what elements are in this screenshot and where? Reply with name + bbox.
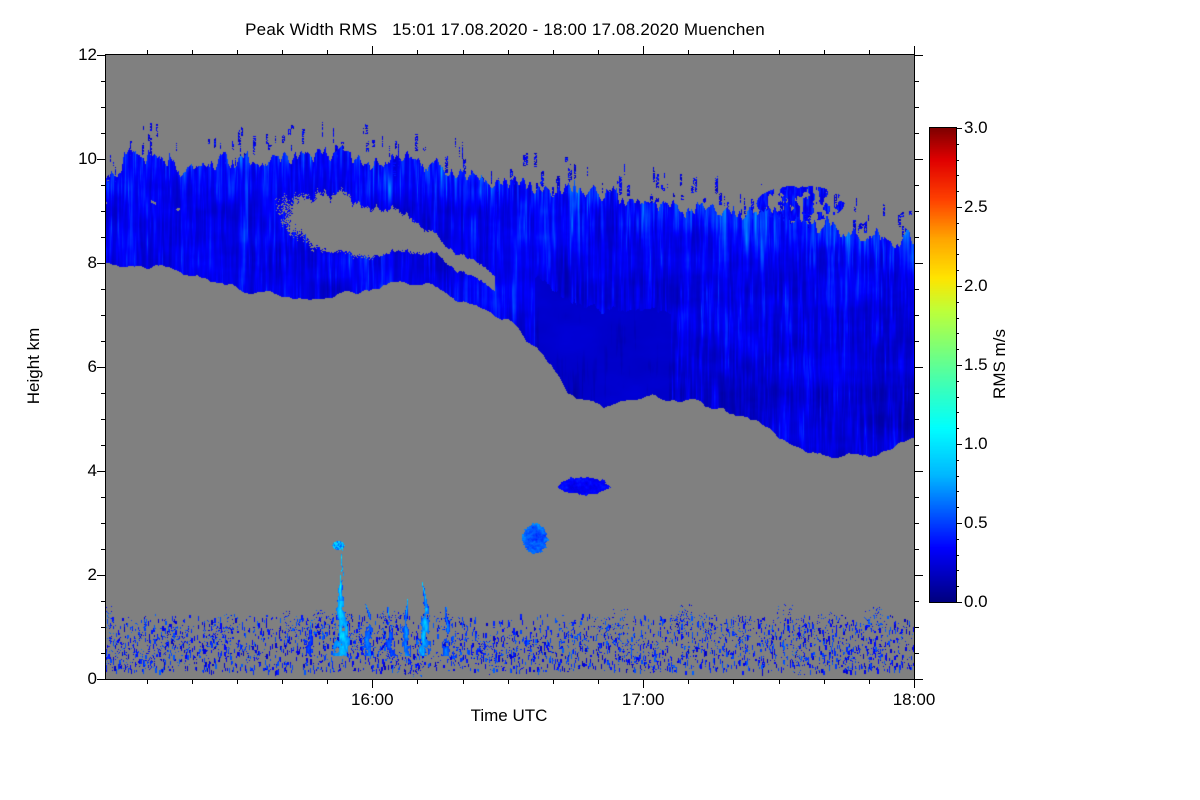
y-tick	[914, 341, 919, 342]
heatmap-image	[106, 55, 914, 679]
y-tick	[101, 341, 106, 342]
colorbar-tick	[956, 191, 959, 192]
y-tick	[101, 445, 106, 446]
colorbar-tick-label: 0.0	[964, 592, 988, 612]
x-tick	[417, 679, 418, 684]
y-tick	[101, 211, 106, 212]
y-tick	[101, 393, 106, 394]
y-axis-title: Height km	[22, 54, 46, 678]
x-tick	[733, 679, 734, 684]
colorbar-title: RMS m/s	[988, 127, 1012, 601]
y-tick	[101, 185, 106, 186]
x-tick	[869, 679, 870, 684]
x-tick	[508, 50, 509, 55]
x-tick	[914, 46, 915, 55]
y-tick	[914, 315, 919, 316]
y-tick	[97, 159, 106, 160]
x-tick	[282, 679, 283, 684]
y-tick	[97, 55, 106, 56]
x-tick	[824, 50, 825, 55]
x-tick	[192, 679, 193, 684]
colorbar-tick	[956, 460, 959, 461]
x-tick	[914, 679, 915, 688]
colorbar-tick	[956, 397, 959, 398]
y-tick	[101, 627, 106, 628]
y-tick	[914, 159, 923, 160]
colorbar-tick	[956, 444, 962, 445]
colorbar-tick	[956, 491, 959, 492]
colorbar-tick	[956, 428, 959, 429]
y-tick-label: 4	[88, 461, 97, 481]
x-tick	[779, 679, 780, 684]
colorbar-tick	[956, 175, 959, 176]
x-tick	[192, 50, 193, 55]
x-tick	[779, 50, 780, 55]
x-tick	[553, 50, 554, 55]
y-tick	[97, 367, 106, 368]
y-tick	[97, 575, 106, 576]
x-tick	[327, 679, 328, 684]
colorbar-tick	[956, 270, 959, 271]
y-tick-label: 2	[88, 565, 97, 585]
y-tick	[914, 445, 919, 446]
colorbar-tick	[956, 349, 959, 350]
x-tick	[282, 50, 283, 55]
y-tick-label: 0	[88, 669, 97, 689]
y-tick	[101, 549, 106, 550]
y-tick	[101, 133, 106, 134]
x-tick	[417, 50, 418, 55]
x-tick	[688, 679, 689, 684]
y-tick	[101, 653, 106, 654]
y-tick	[101, 601, 106, 602]
colorbar-tick	[956, 254, 959, 255]
y-tick-label: 12	[78, 45, 97, 65]
y-tick	[914, 289, 919, 290]
colorbar-tick	[956, 333, 959, 334]
y-tick	[97, 679, 106, 680]
y-tick	[101, 523, 106, 524]
colorbar: 0.00.51.01.52.02.53.0	[929, 127, 957, 603]
x-tick	[463, 50, 464, 55]
colorbar-tick	[956, 555, 959, 556]
colorbar-tick	[956, 602, 962, 603]
colorbar-tick	[956, 302, 959, 303]
y-tick	[101, 497, 106, 498]
colorbar-tick-label: 3.0	[964, 118, 988, 138]
x-tick	[508, 679, 509, 684]
x-tick	[463, 679, 464, 684]
y-tick	[914, 185, 919, 186]
colorbar-tick	[956, 365, 962, 366]
y-tick-label: 6	[88, 357, 97, 377]
colorbar-tick	[956, 412, 959, 413]
y-tick	[914, 523, 919, 524]
x-tick	[733, 50, 734, 55]
x-tick	[372, 46, 373, 55]
colorbar-tick	[956, 144, 959, 145]
y-tick	[101, 289, 106, 290]
x-tick	[824, 679, 825, 684]
y-tick	[914, 419, 919, 420]
y-tick	[101, 237, 106, 238]
colorbar-tick	[956, 239, 959, 240]
x-tick	[372, 679, 373, 688]
y-tick	[914, 81, 919, 82]
colorbar-tick	[956, 207, 962, 208]
y-tick	[914, 263, 923, 264]
y-tick	[914, 393, 919, 394]
colorbar-tick	[956, 507, 959, 508]
y-tick	[101, 107, 106, 108]
y-tick	[914, 107, 919, 108]
colorbar-gradient	[930, 128, 956, 602]
colorbar-tick-label: 0.5	[964, 513, 988, 533]
x-tick	[237, 679, 238, 684]
y-tick	[101, 81, 106, 82]
plot-title: Peak Width RMS 15:01 17.08.2020 - 18:00 …	[0, 20, 1010, 40]
plot-area: 024681012 16:0017:0018:00	[105, 54, 915, 680]
x-tick	[598, 679, 599, 684]
colorbar-tick-label: 2.5	[964, 197, 988, 217]
colorbar-tick	[956, 128, 962, 129]
x-tick	[237, 50, 238, 55]
colorbar-tick	[956, 223, 959, 224]
y-tick	[101, 419, 106, 420]
x-tick	[688, 50, 689, 55]
x-tick	[147, 679, 148, 684]
x-tick	[643, 46, 644, 55]
y-tick	[914, 367, 923, 368]
colorbar-tick	[956, 160, 959, 161]
y-tick-label: 8	[88, 253, 97, 273]
y-tick	[914, 471, 923, 472]
y-tick	[914, 549, 919, 550]
colorbar-tick	[956, 570, 959, 571]
colorbar-tick	[956, 476, 959, 477]
figure-canvas: Peak Width RMS 15:01 17.08.2020 - 18:00 …	[0, 0, 1200, 800]
y-tick	[914, 211, 919, 212]
y-tick	[914, 55, 923, 56]
colorbar-tick-label: 1.5	[964, 355, 988, 375]
y-tick	[914, 627, 919, 628]
y-tick	[97, 263, 106, 264]
y-tick	[914, 679, 923, 680]
colorbar-tick	[956, 539, 959, 540]
colorbar-tick	[956, 381, 959, 382]
colorbar-tick-label: 2.0	[964, 276, 988, 296]
x-axis-title: Time UTC	[105, 706, 913, 726]
x-tick	[553, 679, 554, 684]
y-tick-label: 10	[78, 149, 97, 169]
y-tick	[914, 497, 919, 498]
y-tick	[914, 133, 919, 134]
y-axis-title-text: Height km	[24, 328, 44, 405]
colorbar-tick-label: 1.0	[964, 434, 988, 454]
y-tick	[914, 575, 923, 576]
colorbar-tick	[956, 586, 959, 587]
y-tick	[914, 237, 919, 238]
y-tick	[914, 653, 919, 654]
colorbar-tick	[956, 318, 959, 319]
colorbar-title-text: RMS m/s	[990, 329, 1010, 399]
x-tick	[643, 679, 644, 688]
x-tick	[327, 50, 328, 55]
y-tick	[914, 601, 919, 602]
colorbar-tick	[956, 286, 962, 287]
y-tick	[97, 471, 106, 472]
y-tick	[101, 315, 106, 316]
colorbar-tick	[956, 523, 962, 524]
x-tick	[598, 50, 599, 55]
x-tick	[147, 50, 148, 55]
x-tick	[869, 50, 870, 55]
